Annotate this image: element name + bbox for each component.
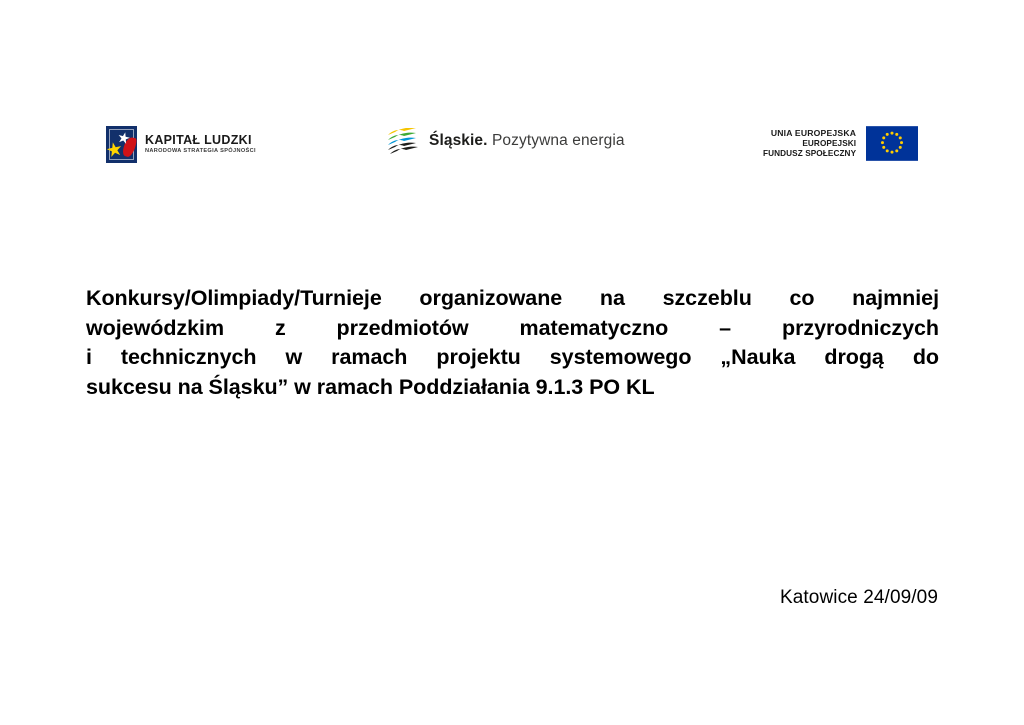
- slaskie-wordmark: Śląskie. Pozytywna energia: [429, 132, 625, 150]
- slaskie-stripes-icon: [387, 128, 420, 154]
- title-line-4: sukcesu na Śląsku” w ramach Poddziałania…: [86, 373, 939, 403]
- unia-europejska-line3: FUNDUSZ SPOŁECZNY: [763, 149, 856, 159]
- unia-europejska-logo: UNIA EUROPEJSKA EUROPEJSKI FUNDUSZ SPOŁE…: [763, 126, 918, 161]
- kapital-ludzki-emblem-icon: ★ ★: [106, 126, 137, 163]
- slaskie-tagline: Pozytywna energia: [492, 132, 625, 149]
- kapital-ludzki-logo: ★ ★ KAPITAŁ LUDZKI NARODOWA STRATEGIA SP…: [106, 126, 256, 163]
- title-line-1: Konkursy/Olimpiady/Turnieje organizowane…: [86, 284, 939, 314]
- eu-flag-icon: [866, 126, 918, 161]
- slaskie-logo: Śląskie. Pozytywna energia: [387, 128, 625, 154]
- slide-title: Konkursy/Olimpiady/Turnieje organizowane…: [86, 284, 939, 402]
- kapital-ludzki-text: KAPITAŁ LUDZKI NARODOWA STRATEGIA SPÓJNO…: [145, 134, 256, 155]
- title-line-2: wojewódzkim z przedmiotów matematyczno –…: [86, 314, 939, 344]
- title-line-3: i technicznych w ramach projektu systemo…: [86, 343, 939, 373]
- kapital-ludzki-subtitle: NARODOWA STRATEGIA SPÓJNOŚCI: [145, 149, 256, 155]
- location-date: Katowice 24/09/09: [0, 587, 938, 609]
- logo-bar: ★ ★ KAPITAŁ LUDZKI NARODOWA STRATEGIA SP…: [0, 118, 1024, 184]
- slaskie-name: Śląskie.: [429, 132, 488, 149]
- kapital-ludzki-title: KAPITAŁ LUDZKI: [145, 134, 256, 147]
- slide-canvas: ★ ★ KAPITAŁ LUDZKI NARODOWA STRATEGIA SP…: [0, 0, 1024, 725]
- unia-europejska-line1: UNIA EUROPEJSKA: [763, 128, 856, 139]
- unia-europejska-text: UNIA EUROPEJSKA EUROPEJSKI FUNDUSZ SPOŁE…: [763, 128, 856, 159]
- unia-europejska-line2: EUROPEJSKI: [763, 139, 856, 149]
